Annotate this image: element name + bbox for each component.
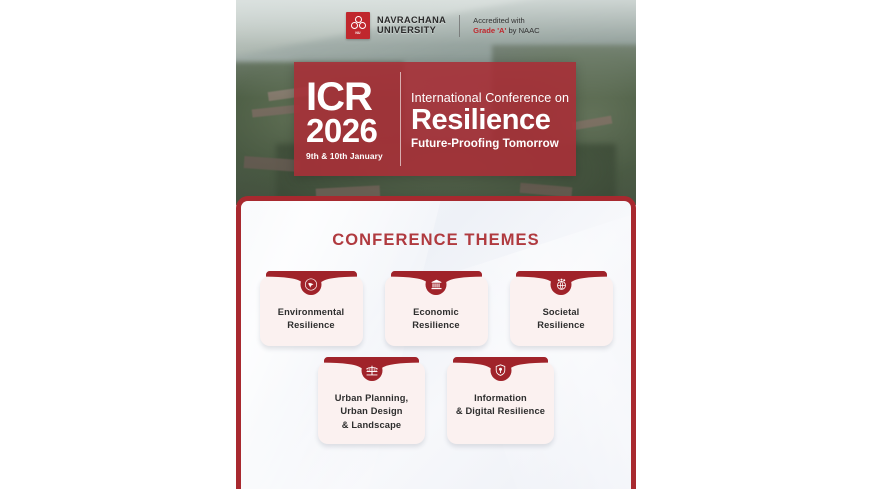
theme-card-label-line: Resilience	[266, 319, 357, 332]
banner-subtitle-line2: Resilience	[411, 106, 570, 136]
navrachana-logo-icon: NU	[346, 12, 370, 39]
theme-card-label-line: Urban Design	[324, 405, 419, 418]
university-name-line2: UNIVERSITY	[377, 26, 446, 35]
bridge-icon	[361, 360, 382, 381]
accreditation-suffix: by NAAC	[506, 26, 539, 35]
accreditation-line1: Accredited with	[473, 16, 540, 25]
theme-card-label-line: & Landscape	[324, 419, 419, 432]
globe-people-icon	[551, 274, 572, 295]
logo-divider	[459, 15, 460, 37]
banner-acronym: ICR	[306, 79, 400, 116]
accreditation-grade: Grade 'A'	[473, 26, 506, 35]
theme-card-label-line: Resilience	[391, 319, 482, 332]
theme-card-label: EconomicResilience	[391, 306, 482, 333]
banner-right-block: International Conference on Resilience F…	[401, 62, 576, 176]
screenshot-canvas: NU NAVRACHANA UNIVERSITY Accredited with…	[0, 0, 870, 489]
theme-card[interactable]: SocietalResilience	[510, 276, 613, 346]
accreditation-block: Accredited with Grade 'A' by NAAC	[473, 16, 540, 35]
themes-heading: CONFERENCE THEMES	[241, 231, 631, 250]
conference-poster: NU NAVRACHANA UNIVERSITY Accredited with…	[236, 0, 636, 489]
theme-card-label: EnvironmentalResilience	[266, 306, 357, 333]
theme-card-label-line: Societal	[516, 306, 607, 319]
banner-dates: 9th & 10th January	[306, 151, 400, 161]
banner-subtitle-line1: International Conference on	[411, 91, 570, 105]
banner-year: 2026	[306, 114, 400, 147]
theme-card-label: Urban Planning,Urban Design& Landscape	[324, 392, 419, 432]
theme-card[interactable]: Information& Digital Resilience	[447, 362, 554, 444]
conference-themes-panel: CONFERENCE THEMES EnvironmentalResilienc…	[236, 196, 636, 489]
theme-card[interactable]: EnvironmentalResilience	[260, 276, 363, 346]
themes-row-1: EnvironmentalResilienceEconomicResilienc…	[241, 276, 631, 346]
theme-card[interactable]: EconomicResilience	[385, 276, 488, 346]
banner-tagline: Future-Proofing Tomorrow	[411, 138, 570, 151]
theme-card-label-line: Resilience	[516, 319, 607, 332]
accreditation-line2: Grade 'A' by NAAC	[473, 26, 540, 35]
theme-card-label-line: Economic	[391, 306, 482, 319]
leaf-shield-icon	[301, 274, 322, 295]
theme-card-label: SocietalResilience	[516, 306, 607, 333]
themes-grid: EnvironmentalResilienceEconomicResilienc…	[241, 276, 631, 444]
theme-card-label-line: & Digital Resilience	[453, 405, 548, 418]
themes-row-2: Urban Planning,Urban Design& LandscapeIn…	[241, 362, 631, 444]
digital-shield-icon	[490, 360, 511, 381]
conference-title-banner: ICR 2026 9th & 10th January Internationa…	[294, 62, 576, 176]
university-name: NAVRACHANA UNIVERSITY	[377, 16, 446, 35]
theme-card-label-line: Information	[453, 392, 548, 405]
banner-left-block: ICR 2026 9th & 10th January	[294, 62, 400, 176]
theme-card-label: Information& Digital Resilience	[453, 392, 548, 419]
logo-emblem-rings-icon	[351, 16, 366, 31]
bank-building-icon	[426, 274, 447, 295]
theme-card[interactable]: Urban Planning,Urban Design& Landscape	[318, 362, 425, 444]
university-logo-lockup: NU NAVRACHANA UNIVERSITY Accredited with…	[346, 12, 540, 39]
theme-card-label-line: Environmental	[266, 306, 357, 319]
logo-mark-text: NU	[355, 32, 360, 35]
theme-card-label-line: Urban Planning,	[324, 392, 419, 405]
